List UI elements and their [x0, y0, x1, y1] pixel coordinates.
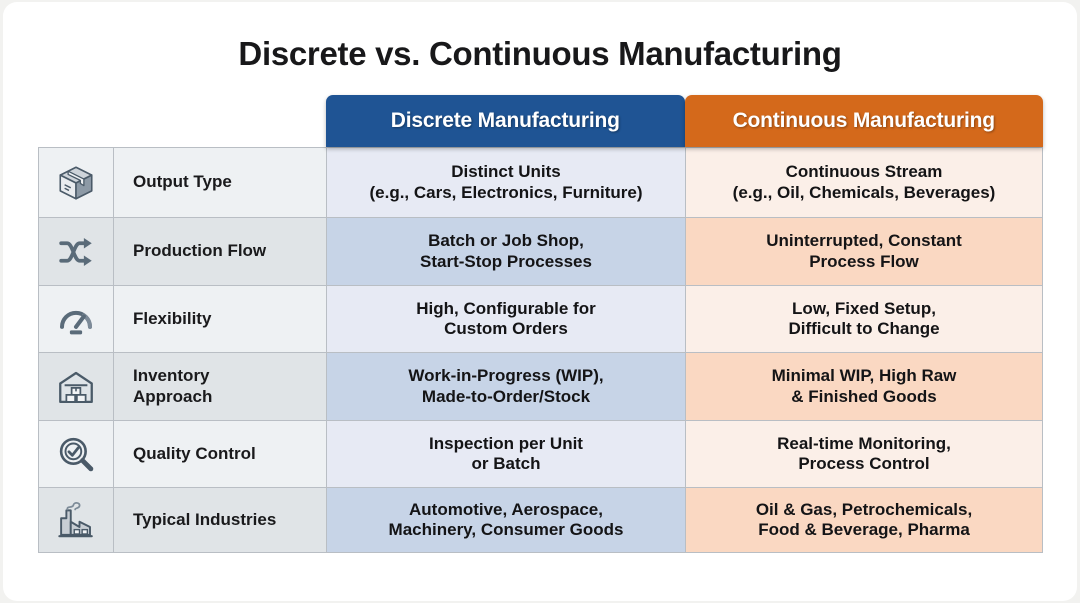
discrete-text-line: or Batch: [429, 454, 583, 474]
comparison-table: Output Type Distinct Units (e.g., Cars, …: [38, 147, 1043, 553]
column-header-row: Discrete Manufacturing Continuous Manufa…: [326, 95, 1043, 147]
discrete-text-line: Distinct Units: [369, 162, 642, 182]
discrete-text-line: Machinery, Consumer Goods: [389, 520, 624, 540]
discrete-text-line: Work-in-Progress (WIP),: [408, 366, 603, 386]
discrete-text-line: High, Configurable for: [416, 299, 595, 319]
package-box-icon: [55, 162, 97, 204]
discrete-text-line: Start-Stop Processes: [420, 252, 592, 272]
continuous-cell: Uninterrupted, Constant Process Flow: [686, 218, 1043, 286]
continuous-cell: Low, Fixed Setup, Difficult to Change: [686, 286, 1043, 353]
discrete-cell: Batch or Job Shop, Start-Stop Processes: [327, 218, 686, 286]
row-label-cell: Flexibility: [114, 286, 327, 353]
row-label-text: Output Type: [133, 172, 232, 192]
discrete-text-line: Batch or Job Shop,: [420, 231, 592, 251]
row-label-cell: Inventory Approach: [114, 353, 327, 421]
row-icon-cell: [39, 218, 114, 286]
row-label-cell: Typical Industries: [114, 488, 327, 553]
row-label-text: Production Flow: [133, 241, 266, 261]
table-row: Typical Industries Automotive, Aerospace…: [39, 488, 1043, 553]
infographic-card: Discrete vs. Continuous Manufacturing Di…: [3, 2, 1077, 601]
continuous-text-line: Process Flow: [766, 252, 962, 272]
continuous-text-line: Uninterrupted, Constant: [766, 231, 962, 251]
table-row: Production Flow Batch or Job Shop, Start…: [39, 218, 1043, 286]
column-header-discrete: Discrete Manufacturing: [326, 95, 685, 147]
continuous-text-line: Minimal WIP, High Raw: [772, 366, 957, 386]
continuous-cell: Oil & Gas, Petrochemicals, Food & Bevera…: [686, 488, 1043, 553]
magnifier-check-icon: [55, 433, 97, 475]
discrete-cell: High, Configurable for Custom Orders: [327, 286, 686, 353]
continuous-text-line: Low, Fixed Setup,: [788, 299, 939, 319]
table-row: Inventory Approach Work-in-Progress (WIP…: [39, 353, 1043, 421]
continuous-text-line: Continuous Stream: [733, 162, 996, 182]
row-icon-cell: [39, 286, 114, 353]
continuous-cell: Real-time Monitoring, Process Control: [686, 421, 1043, 488]
continuous-text-line: & Finished Goods: [772, 387, 957, 407]
discrete-text-line: Inspection per Unit: [429, 434, 583, 454]
discrete-cell: Distinct Units (e.g., Cars, Electronics,…: [327, 148, 686, 218]
continuous-text-line: Food & Beverage, Pharma: [756, 520, 972, 540]
row-label-text: Typical Industries: [133, 510, 276, 530]
discrete-text-line: Made-to-Order/Stock: [408, 387, 603, 407]
continuous-text-line: Real-time Monitoring,: [777, 434, 951, 454]
table-row: Quality Control Inspection per Unit or B…: [39, 421, 1043, 488]
discrete-cell: Inspection per Unit or Batch: [327, 421, 686, 488]
table-row: Output Type Distinct Units (e.g., Cars, …: [39, 148, 1043, 218]
row-label-text: Flexibility: [133, 309, 211, 329]
row-icon-cell: [39, 148, 114, 218]
warehouse-icon: [55, 366, 97, 408]
shuffle-arrows-icon: [55, 231, 97, 273]
discrete-text-line: Custom Orders: [416, 319, 595, 339]
column-header-continuous: Continuous Manufacturing: [685, 95, 1044, 147]
discrete-text-line: Automotive, Aerospace,: [389, 500, 624, 520]
continuous-cell: Continuous Stream (e.g., Oil, Chemicals,…: [686, 148, 1043, 218]
page-title: Discrete vs. Continuous Manufacturing: [3, 35, 1077, 73]
row-label-cell: Production Flow: [114, 218, 327, 286]
continuous-text-line: (e.g., Oil, Chemicals, Beverages): [733, 183, 996, 203]
continuous-text-line: Difficult to Change: [788, 319, 939, 339]
row-label-text: Inventory Approach: [133, 366, 212, 407]
row-label-text: Quality Control: [133, 444, 256, 464]
continuous-text-line: Process Control: [777, 454, 951, 474]
factory-icon: [55, 499, 97, 541]
continuous-cell: Minimal WIP, High Raw & Finished Goods: [686, 353, 1043, 421]
gauge-icon: [55, 298, 97, 340]
discrete-cell: Work-in-Progress (WIP), Made-to-Order/St…: [327, 353, 686, 421]
continuous-text-line: Oil & Gas, Petrochemicals,: [756, 500, 972, 520]
row-icon-cell: [39, 353, 114, 421]
discrete-text-line: (e.g., Cars, Electronics, Furniture): [369, 183, 642, 203]
row-icon-cell: [39, 488, 114, 553]
row-icon-cell: [39, 421, 114, 488]
discrete-cell: Automotive, Aerospace, Machinery, Consum…: [327, 488, 686, 553]
table-row: Flexibility High, Configurable for Custo…: [39, 286, 1043, 353]
row-label-cell: Output Type: [114, 148, 327, 218]
row-label-cell: Quality Control: [114, 421, 327, 488]
